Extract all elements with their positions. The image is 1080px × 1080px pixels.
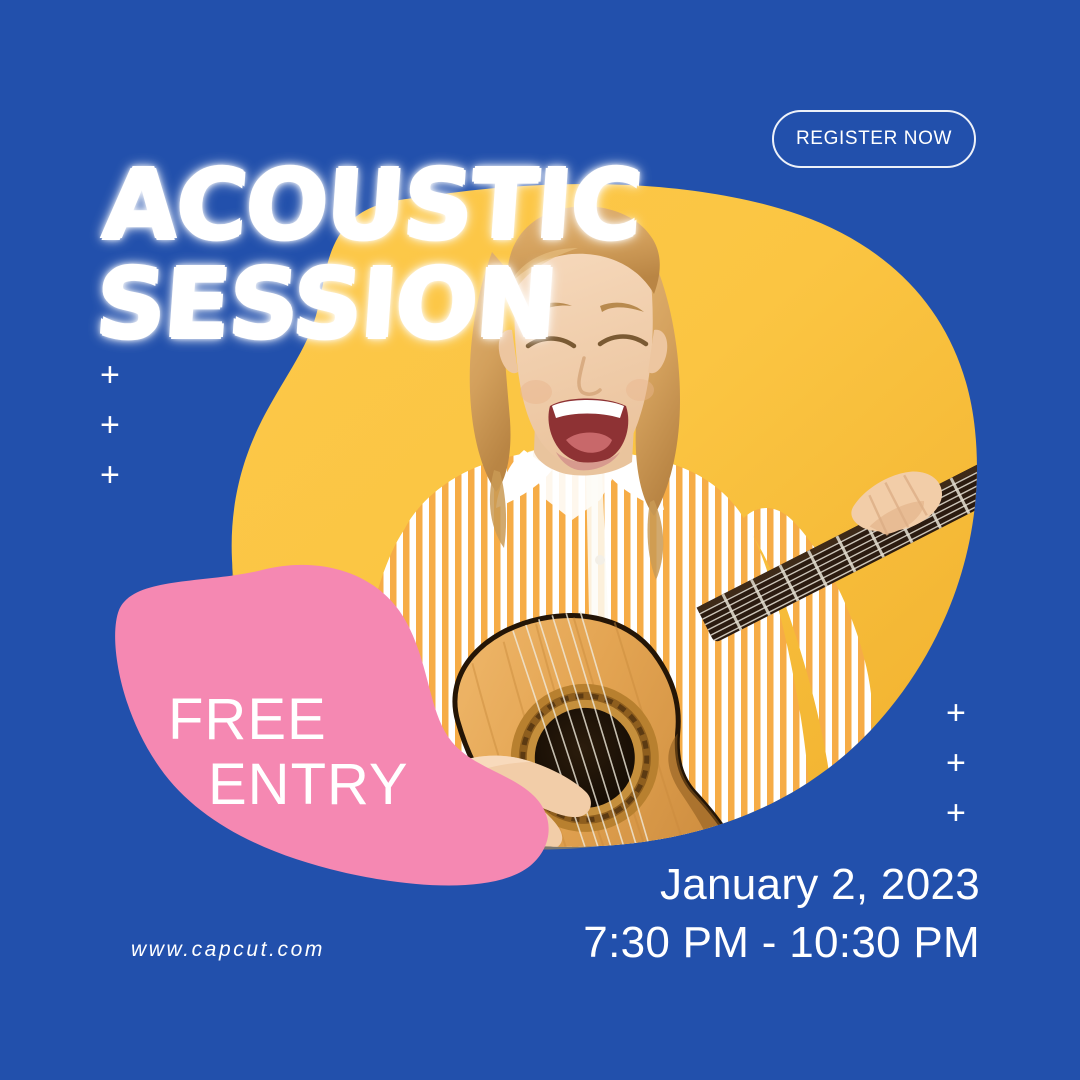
free-entry-badge: FREE ENTRY xyxy=(150,688,409,818)
headline-line-1: ACOUSTIC xyxy=(100,160,643,251)
plus-icon: + xyxy=(946,696,966,730)
register-now-label: REGISTER NOW xyxy=(796,128,952,150)
plus-icon: + xyxy=(946,796,966,830)
plus-icon: + xyxy=(100,458,120,492)
event-date: January 2, 2023 xyxy=(583,856,980,914)
plus-icon: + xyxy=(100,408,120,442)
poster-canvas: ACOUSTIC SESSION REGISTER NOW FREE ENTRY… xyxy=(0,0,1080,1080)
headline-line-2: SESSION xyxy=(93,260,636,351)
register-now-button[interactable]: REGISTER NOW xyxy=(772,110,976,168)
free-entry-line-1: FREE xyxy=(150,688,409,753)
page-title: ACOUSTIC SESSION xyxy=(93,160,643,350)
event-datetime: January 2, 2023 7:30 PM - 10:30 PM xyxy=(583,856,980,972)
plus-icon: + xyxy=(946,746,966,780)
website-url[interactable]: www.capcut.com xyxy=(131,938,325,962)
event-time: 7:30 PM - 10:30 PM xyxy=(583,914,980,972)
plus-icon: + xyxy=(100,358,120,392)
free-entry-line-2: ENTRY xyxy=(150,753,409,818)
